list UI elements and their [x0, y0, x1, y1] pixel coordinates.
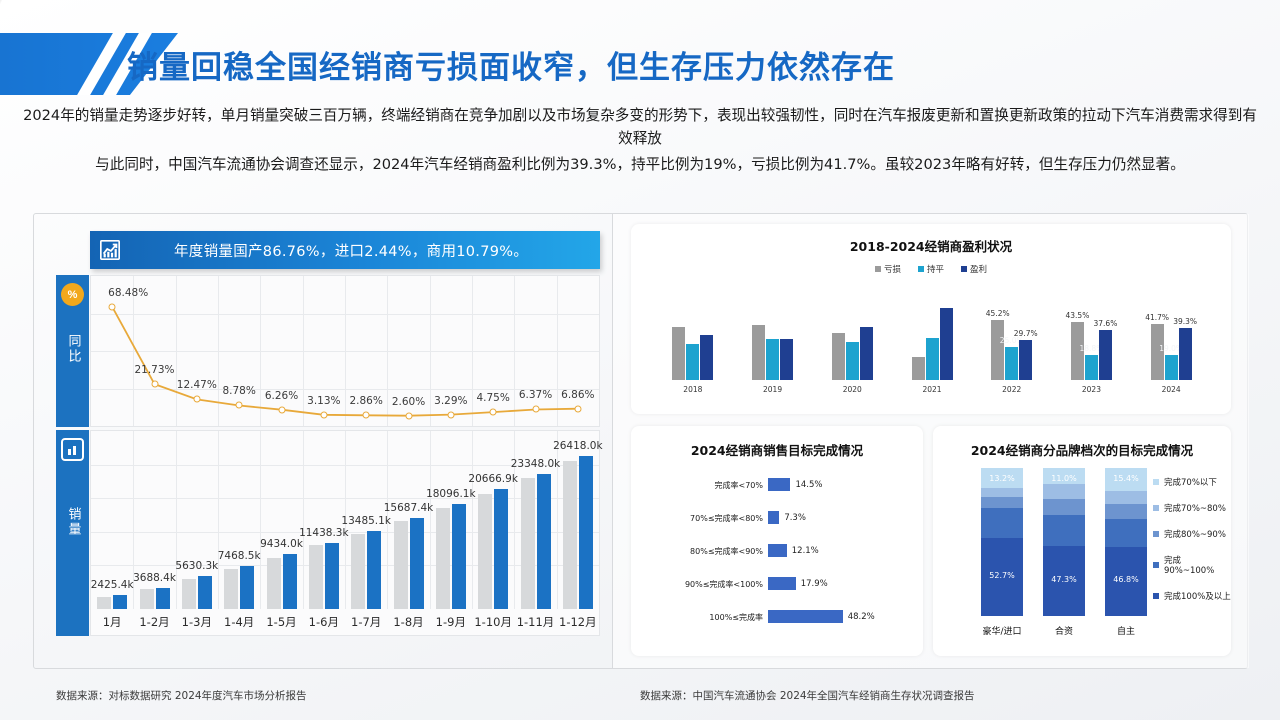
segment-完成70%以下: 15.4%	[1105, 468, 1147, 491]
bar-亏损	[672, 327, 685, 380]
x-axis-label: 1月	[103, 614, 122, 630]
data-label: 43.5%	[1066, 311, 1090, 320]
bar-current	[240, 566, 254, 609]
stacked-bar-1: 11.0%47.3%	[1043, 468, 1085, 616]
y-axis-label: 完成率<70%	[639, 480, 763, 491]
bar-previous	[478, 494, 492, 609]
card-dealer-profit: 2018-2024经销商盈利状况 亏损持平盈利 2018201920202021…	[631, 224, 1231, 414]
segment-完成70%~80%	[1043, 484, 1085, 498]
bar-previous	[436, 508, 450, 609]
legend-label: 亏损	[884, 263, 901, 275]
line-data-point	[447, 411, 454, 418]
legend-label: 完成80%~90%	[1164, 528, 1226, 540]
x-axis-label: 自主	[1117, 624, 1135, 637]
bar-盈利	[1019, 340, 1032, 380]
line-data-point	[320, 411, 327, 418]
x-axis-label: 2023	[1082, 385, 1101, 394]
x-axis-label: 1-10月	[474, 614, 512, 630]
card-sales-target: 2024经销商销售目标完成情况 完成率<70%14.5%70%≤完成率<80%7…	[631, 426, 923, 656]
segment-label-bottom: 47.3%	[1043, 575, 1085, 584]
data-label: 41.7%	[1145, 313, 1169, 322]
segment-label-top: 13.2%	[981, 474, 1023, 483]
x-axis-label: 2019	[763, 385, 782, 394]
segment-完成100%及以上: 47.3%	[1043, 546, 1085, 616]
bar-持平	[926, 338, 939, 380]
segment-label-bottom: 46.8%	[1105, 575, 1147, 584]
bar-亏损	[991, 320, 1004, 380]
bar-盈利	[940, 308, 953, 380]
x-axis-label: 2018	[683, 385, 702, 394]
data-label: 13485.1k	[341, 515, 391, 527]
data-label: 14.5%	[795, 480, 822, 490]
segment-完成90%~100%	[1105, 519, 1147, 547]
legend-dealer-profit: 亏损持平盈利	[631, 263, 1231, 275]
legend-item: 完成70%~80%	[1153, 502, 1231, 514]
data-label: 15687.4k	[384, 502, 434, 514]
data-label: 48.2%	[848, 612, 875, 622]
data-label: 2.60%	[392, 396, 425, 408]
x-axis-label: 2022	[1002, 385, 1021, 394]
annual-sales-banner: 年度销量国产86.76%，进口2.44%，商用10.79%。	[90, 231, 600, 269]
bar-亏损	[912, 357, 925, 380]
legend-label: 完成100%及以上	[1164, 590, 1231, 602]
line-data-point	[574, 405, 581, 412]
legend-item: 完成80%~90%	[1153, 528, 1231, 540]
gridline-v	[430, 431, 431, 609]
legend-swatch-0	[1153, 479, 1159, 485]
data-label: 68.48%	[108, 287, 148, 299]
bar-亏损	[752, 325, 765, 380]
bar-current	[494, 489, 508, 609]
bar-2	[768, 544, 787, 557]
bar-3	[768, 577, 796, 590]
bar-previous	[521, 478, 535, 609]
rail-sales-label: 销量	[65, 507, 81, 537]
data-label: 37.6%	[1094, 319, 1118, 328]
legend-item: 完成70%以下	[1153, 476, 1231, 488]
legend-label: 盈利	[970, 263, 987, 275]
segment-完成100%及以上: 46.8%	[1105, 547, 1147, 616]
data-label: 2.86%	[349, 395, 382, 407]
chart-title-sales-target: 2024经销商销售目标完成情况	[631, 440, 923, 459]
data-label: 4.75%	[476, 392, 509, 404]
x-axis-label: 2020	[843, 385, 862, 394]
content-frame: 年度销量国产86.76%，进口2.44%，商用10.79%。 % 同比 销量 6…	[33, 213, 1248, 669]
bar-current	[198, 576, 212, 609]
bar-previous	[140, 589, 154, 609]
bar-持平	[1165, 355, 1178, 380]
legend-swatch-1	[918, 266, 924, 272]
chart-yoy-line: 68.48%21.73%12.47%8.78%6.26%3.13%2.86%2.…	[90, 275, 600, 427]
line-data-point	[490, 409, 497, 416]
bar-previous	[97, 597, 111, 609]
legend-label: 持平	[927, 263, 944, 275]
legend-item: 亏损	[875, 263, 901, 275]
segment-label-top: 15.4%	[1105, 474, 1147, 483]
card-brand-tier: 2024经销商分品牌档次的目标完成情况 13.2%52.7%豪华/进口11.0%…	[933, 426, 1231, 656]
x-axis-label: 1-9月	[436, 614, 466, 630]
segment-完成90%~100%	[1043, 515, 1085, 546]
legend-swatch-3	[1153, 562, 1159, 568]
y-axis-label: 100%≤完成率	[639, 612, 763, 623]
plot-area-dealer-profit: 201820192020202145.2%25.0%29.7%202243.5%…	[653, 286, 1211, 394]
bar-previous	[224, 569, 238, 609]
segment-完成70%~80%	[981, 488, 1023, 497]
legend-label: 完成90%~100%	[1164, 554, 1231, 576]
legend-swatch-4	[1153, 593, 1159, 599]
percent-badge-icon: %	[61, 283, 84, 306]
data-label: 20666.9k	[468, 473, 518, 485]
data-label: 3.29%	[434, 395, 467, 407]
bar-current	[113, 595, 127, 609]
x-axis-label: 1-6月	[309, 614, 339, 630]
bar-0	[768, 478, 790, 491]
bar-current	[367, 531, 381, 609]
bar-previous	[267, 558, 281, 609]
data-label: 21.73%	[134, 364, 174, 376]
segment-label-bottom: 52.7%	[981, 571, 1023, 580]
source-right: 数据来源：中国汽车流通协会 2024年全国汽车经销商生存状况调查报告	[640, 688, 975, 703]
bar-盈利	[1179, 328, 1192, 380]
rail-yoy: % 同比	[56, 275, 89, 427]
line-data-point	[363, 412, 370, 419]
x-axis-label: 合资	[1055, 624, 1073, 637]
gridline-v	[303, 431, 304, 609]
data-label: 6.26%	[265, 390, 298, 402]
plot-area-brand-tier: 13.2%52.7%豪华/进口11.0%47.3%合资15.4%46.8%自主完…	[933, 462, 1231, 652]
rail-yoy-label: 同比	[65, 334, 81, 364]
bar-current	[579, 456, 593, 609]
data-label: 9434.0k	[260, 538, 303, 550]
segment-完成100%及以上: 52.7%	[981, 538, 1023, 616]
bar-持平	[846, 342, 859, 380]
y-axis-label: 70%≤完成率<80%	[639, 513, 763, 524]
bar-持平	[686, 344, 699, 380]
chart-growth-icon	[90, 231, 130, 269]
gridline-v	[260, 431, 261, 609]
bar-亏损	[832, 333, 845, 380]
data-label: 45.2%	[986, 309, 1010, 318]
line-data-point	[405, 412, 412, 419]
segment-完成80%~90%	[1043, 499, 1085, 515]
gridline-v	[472, 431, 473, 609]
data-label: 12.47%	[177, 379, 217, 391]
segment-完成80%~90%	[1105, 504, 1147, 519]
bar-chart-badge-icon	[61, 438, 84, 461]
y-axis-label: 80%≤完成率<90%	[639, 546, 763, 557]
x-axis-label: 1-5月	[266, 614, 296, 630]
bar-previous	[182, 579, 196, 609]
bar-current	[537, 474, 551, 609]
source-left: 数据来源：对标数据研究 2024年度汽车市场分析报告	[56, 688, 307, 703]
data-label: 2425.4k	[91, 579, 134, 591]
left-chart-panel: 年度销量国产86.76%，进口2.44%，商用10.79%。 % 同比 销量 6…	[34, 214, 612, 668]
x-axis-label: 豪华/进口	[982, 624, 1021, 637]
x-axis-label: 1-3月	[182, 614, 212, 630]
bar-盈利	[780, 339, 793, 380]
bar-盈利	[1099, 330, 1112, 380]
yoy-line-path	[91, 276, 599, 426]
bar-current	[452, 504, 466, 609]
x-axis-label: 1-8月	[393, 614, 423, 630]
bar-current	[283, 554, 297, 609]
segment-label-top: 11.0%	[1043, 474, 1085, 483]
data-label: 23348.0k	[511, 458, 561, 470]
x-axis-label: 1-7月	[351, 614, 381, 630]
intro-text: 2024年的销量走势逐步好转，单月销量突破三百万辆，终端经销商在竞争加剧以及市场…	[22, 104, 1258, 176]
chart-title-brand-tier: 2024经销商分品牌档次的目标完成情况	[933, 440, 1231, 459]
x-axis-label: 2021	[922, 385, 941, 394]
x-axis-label: 1-12月	[559, 614, 597, 630]
bar-持平	[1005, 347, 1018, 380]
page-title: 销量回稳全国经销商亏损面收窄，但生存压力依然存在	[127, 33, 895, 95]
legend-item: 持平	[918, 263, 944, 275]
data-label: 3688.4k	[133, 572, 176, 584]
segment-完成90%~100%	[981, 508, 1023, 538]
line-data-point	[532, 406, 539, 413]
line-data-point	[151, 381, 158, 388]
x-axis-label: 2024	[1162, 385, 1181, 394]
data-label: 7468.5k	[218, 550, 261, 562]
legend-swatch-2	[1153, 531, 1159, 537]
slide-header: 销量回稳全国经销商亏损面收窄，但生存压力依然存在	[0, 33, 1280, 95]
segment-完成70%~80%	[1105, 491, 1147, 504]
legend-swatch-2	[961, 266, 967, 272]
legend-item: 完成90%~100%	[1153, 554, 1231, 576]
segment-完成80%~90%	[981, 497, 1023, 509]
chart-monthly-sales-bar: 2425.4k1月3688.4k1-2月5630.3k1-3月7468.5k1-…	[90, 430, 600, 636]
data-label: 18096.1k	[426, 488, 476, 500]
bar-previous	[563, 461, 577, 609]
data-label: 17.9%	[801, 579, 828, 589]
bar-持平	[766, 339, 779, 380]
plot-area-sales-target: 完成率<70%14.5%70%≤完成率<80%7.3%80%≤完成率<90%12…	[631, 468, 923, 648]
legend-item: 完成100%及以上	[1153, 590, 1231, 602]
legend-label: 完成70%以下	[1164, 476, 1217, 488]
data-label: 29.7%	[1014, 329, 1038, 338]
bar-current	[410, 518, 424, 609]
legend-item: 盈利	[961, 263, 987, 275]
gridline-v	[218, 431, 219, 609]
y-axis-label: 90%≤完成率<100%	[639, 579, 763, 590]
bar-previous	[394, 521, 408, 609]
bar-previous	[351, 534, 365, 609]
data-label: 5630.3k	[175, 560, 218, 572]
bar-current	[156, 588, 170, 609]
data-label: 6.86%	[561, 389, 594, 401]
data-label: 11438.3k	[299, 527, 349, 539]
line-data-point	[236, 402, 243, 409]
bar-持平	[1085, 355, 1098, 380]
line-data-point	[109, 303, 116, 310]
data-label: 39.3%	[1173, 317, 1197, 326]
line-data-point	[278, 406, 285, 413]
x-axis-label: 1-4月	[224, 614, 254, 630]
intro-paragraph-2: 与此同时，中国汽车流通协会调查还显示，2024年汽车经销商盈利比例为39.3%，…	[22, 153, 1258, 176]
legend-swatch-1	[1153, 505, 1159, 511]
legend-label: 完成70%~80%	[1164, 502, 1226, 514]
right-chart-panel: 2018-2024经销商盈利状况 亏损持平盈利 2018201920202021…	[612, 214, 1249, 668]
stacked-bar-0: 13.2%52.7%	[981, 468, 1023, 616]
data-label: 6.37%	[519, 389, 552, 401]
chart-title-dealer-profit: 2018-2024经销商盈利状况	[631, 236, 1231, 255]
bar-盈利	[700, 335, 713, 380]
bar-4	[768, 610, 843, 623]
legend-brand-tier: 完成70%以下完成70%~80%完成80%~90%完成90%~100%完成100…	[1153, 476, 1231, 616]
segment-完成70%以下: 11.0%	[1043, 468, 1085, 484]
data-label: 12.1%	[792, 546, 819, 556]
bar-current	[325, 543, 339, 609]
data-label: 8.78%	[222, 385, 255, 397]
stacked-bar-2: 15.4%46.8%	[1105, 468, 1147, 616]
bar-1	[768, 511, 779, 524]
data-label: 26418.0k	[553, 440, 603, 452]
slide-page: 销量回稳全国经销商亏损面收窄，但生存压力依然存在 2024年的销量走势逐步好转，…	[0, 0, 1280, 720]
line-data-point	[193, 396, 200, 403]
data-label: 7.3%	[784, 513, 806, 523]
banner-label: 年度销量国产86.76%，进口2.44%，商用10.79%。	[174, 240, 528, 261]
intro-paragraph-1: 2024年的销量走势逐步好转，单月销量突破三百万辆，终端经销商在竞争加剧以及市场…	[22, 104, 1258, 150]
bar-盈利	[860, 327, 873, 380]
data-label: 3.13%	[307, 395, 340, 407]
bar-previous	[309, 545, 323, 609]
x-axis-label: 1-11月	[517, 614, 555, 630]
x-axis-label: 1-2月	[139, 614, 169, 630]
segment-完成70%以下: 13.2%	[981, 468, 1023, 488]
legend-swatch-0	[875, 266, 881, 272]
rail-sales: 销量	[56, 430, 89, 636]
